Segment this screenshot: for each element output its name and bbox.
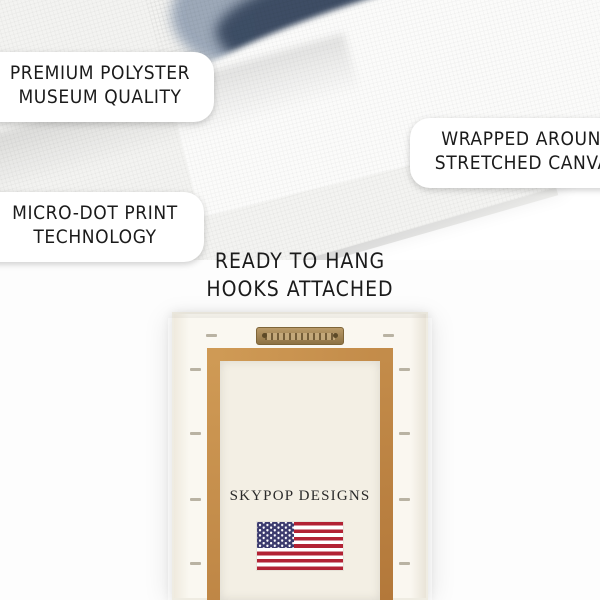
flag-stars [257,522,294,548]
sawtooth-hanger [256,327,344,345]
staple [190,432,201,435]
staple [399,562,410,565]
staple [399,368,410,371]
brand-label: SKYPOP DESIGNS [172,488,428,505]
hanger-screw-hole [333,333,338,338]
hanger-teeth [265,333,335,340]
canvas-back-view: SKYPOP DESIGNS [172,312,428,600]
callout-premium-polyster: PREMIUM POLYSTER MUSEUM QUALITY [0,52,214,122]
product-mockup-image: PREMIUM POLYSTER MUSEUM QUALITY WRAPPED … [0,0,600,600]
staple [206,334,217,337]
hanger-screw-hole [262,333,267,338]
flag-union [257,522,294,548]
staple [190,368,201,371]
callout-wrapped-around: WRAPPED AROUND STRETCHED CANVAS [410,118,600,188]
staple [190,562,201,565]
staple [383,334,394,337]
staple [399,432,410,435]
united-states-flag-icon [257,522,343,570]
callout-ready-to-hang: READY TO HANG HOOKS ATTACHED [0,248,600,303]
